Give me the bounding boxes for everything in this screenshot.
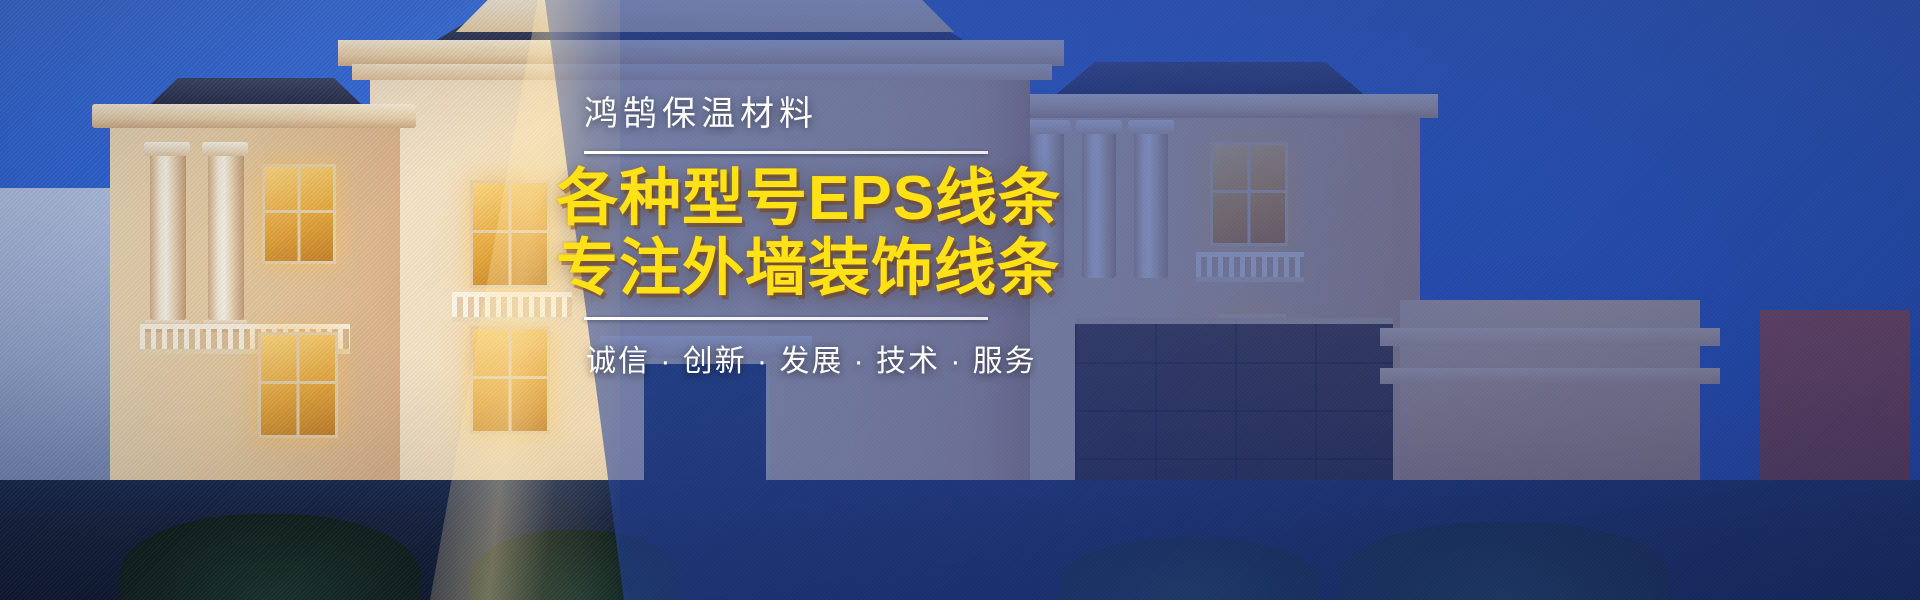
headline-line-1: 各种型号EPS线条 <box>556 164 1061 233</box>
hero-banner: 鸿鹄保温材料 各种型号EPS线条 专注外墙装饰线条 诚信 · 创新 · 发展 ·… <box>0 0 1920 600</box>
window-mullion-vertical <box>509 183 512 285</box>
red-structure-right-edge <box>1760 310 1910 500</box>
window-mullion-horizontal <box>473 376 547 379</box>
window-l-upper-1 <box>262 164 336 264</box>
parapet-band-centre <box>440 0 970 32</box>
window-l-lower-1 <box>258 332 338 438</box>
column-l2 <box>208 150 244 320</box>
balustrade-centre-1 <box>452 292 572 322</box>
window-c-lower-1 <box>470 326 550 434</box>
brand-name: 鸿鹄保温材料 <box>556 96 1456 133</box>
cornice-centre-lower <box>352 64 1052 80</box>
window-mullion-horizontal <box>473 230 547 233</box>
cornice-centre-upper <box>338 40 1064 66</box>
cornice-left-wing <box>92 104 416 128</box>
column-cap-l2 <box>202 142 248 156</box>
window-mullion-vertical <box>509 329 512 431</box>
divider-bottom <box>584 317 988 320</box>
window-mullion-horizontal <box>261 381 335 384</box>
headline-line-2: 专注外墙装饰线条 <box>556 234 1456 303</box>
window-mullion-horizontal <box>265 210 333 213</box>
background-building-left <box>0 188 120 488</box>
tagline: 诚信 · 创新 · 发展 · 技术 · 服务 <box>556 336 1456 380</box>
window-c-upper-1 <box>470 180 550 288</box>
column-cap-l1 <box>144 142 190 156</box>
window-mullion-vertical <box>298 167 301 261</box>
window-mullion-vertical <box>297 335 300 435</box>
divider-top <box>584 151 988 154</box>
banner-copy-block: 鸿鹄保温材料 各种型号EPS线条 专注外墙装饰线条 诚信 · 创新 · 发展 ·… <box>556 96 1456 380</box>
headline: 各种型号EPS线条 专注外墙装饰线条 <box>556 164 1456 303</box>
column-l1 <box>150 150 186 320</box>
